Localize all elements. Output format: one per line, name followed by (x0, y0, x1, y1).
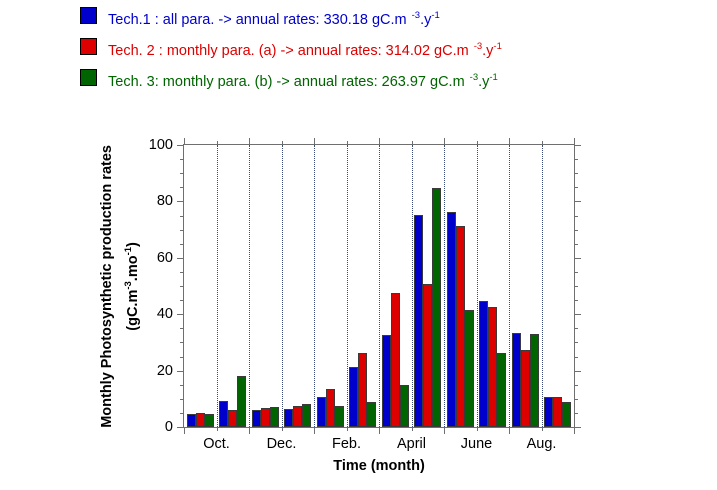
x-axis-tick-label: Aug. (527, 436, 557, 452)
legend-sup-exp2: -1 (489, 72, 497, 83)
bar-tech3 (302, 404, 311, 427)
x-axis-tick (249, 138, 250, 145)
x-axis-tick-label: Dec. (267, 436, 297, 452)
bar-tech1 (284, 409, 293, 427)
bar-tech3 (270, 407, 279, 427)
bar-group (282, 145, 315, 427)
chart-plot-area: 020406080100Oct.Dec.Feb.AprilJuneAug. (183, 144, 575, 428)
y-axis-title: Monthly Photosynthetic production rates … (92, 144, 148, 428)
y-axis-unit-prefix: (gC.m (124, 289, 140, 330)
legend-sup-exp1: -3 (470, 72, 478, 83)
bar-tech2 (521, 350, 530, 427)
bar-tech1 (447, 212, 456, 427)
y-axis-unit-sup2: -1 (123, 247, 134, 255)
x-axis-tick-label: Feb. (332, 436, 361, 452)
legend-item-tech1: Tech.1 : all para. -> annual rates: 330.… (80, 6, 700, 28)
legend: Tech.1 : all para. -> annual rates: 330.… (80, 6, 700, 99)
bar-group (477, 145, 510, 427)
y-axis-tick-right (574, 244, 578, 245)
bar-tech2 (456, 226, 465, 427)
x-axis-tick-top (412, 427, 413, 431)
bar-group (542, 145, 575, 427)
x-axis-tick (379, 138, 380, 145)
bar-group (509, 145, 542, 427)
bar-tech1 (349, 367, 358, 427)
y-axis-tick-right (574, 258, 581, 259)
legend-sup-exp2: -1 (493, 41, 501, 52)
bar-tech2 (261, 408, 270, 427)
legend-text-mid: .y (478, 74, 489, 90)
x-axis-tick-label: June (461, 436, 492, 452)
y-axis-unit-sup1: -3 (123, 281, 134, 289)
y-axis-tick-right (574, 300, 578, 301)
y-axis-tick-right (574, 173, 578, 174)
x-axis-tick-top (217, 427, 218, 431)
y-axis-tick-right (574, 371, 581, 372)
chart-bars (184, 145, 574, 427)
x-axis-tick (184, 138, 185, 145)
bar-tech3 (367, 402, 376, 427)
y-axis-tick-label: 100 (149, 137, 173, 153)
x-axis-tick-top (249, 427, 250, 434)
bar-group (347, 145, 380, 427)
y-axis-tick-right (574, 399, 578, 400)
x-axis-tick-top (379, 427, 380, 434)
bar-tech2 (423, 284, 432, 427)
y-axis-tick (177, 371, 184, 372)
y-axis-tick-right (574, 230, 578, 231)
y-axis-unit-suffix: ) (124, 242, 140, 247)
bar-tech1 (187, 414, 196, 427)
y-axis-tick (177, 201, 184, 202)
bar-tech1 (317, 397, 326, 427)
x-axis-tick-top (477, 427, 478, 431)
bar-tech1 (512, 333, 521, 427)
y-axis-tick (177, 258, 184, 259)
x-axis-tick-top (509, 427, 510, 434)
bar-tech1 (219, 401, 228, 427)
y-axis-tick-right (574, 427, 581, 428)
x-axis-tick-top (444, 427, 445, 434)
bar-tech1 (382, 335, 391, 427)
bar-tech3 (497, 353, 506, 427)
y-axis-tick-right (574, 201, 581, 202)
legend-label-tech1: Tech.1 : all para. -> annual rates: 330.… (108, 6, 440, 30)
bar-tech3 (465, 310, 474, 427)
legend-text-main: Tech. 3: monthly para. (b) -> annual rat… (108, 74, 465, 90)
y-axis-tick-label: 80 (157, 193, 173, 209)
y-axis-tick-right (574, 385, 578, 386)
legend-text-mid: .y (420, 12, 431, 28)
x-axis-tick-top (282, 427, 283, 431)
legend-sup-exp1: -3 (412, 10, 420, 21)
bar-group (184, 145, 217, 427)
y-axis-unit-mid: .mo (124, 255, 140, 281)
bar-group (249, 145, 282, 427)
x-axis-tick-top (574, 427, 575, 434)
bar-group (379, 145, 412, 427)
x-axis-tick (509, 138, 510, 145)
legend-item-tech2: Tech. 2 : monthly para. (a) -> annual ra… (80, 37, 700, 59)
bar-tech2 (326, 389, 335, 427)
bar-group (314, 145, 347, 427)
y-axis-tick-right (574, 187, 578, 188)
x-axis-tick-label: Oct. (203, 436, 230, 452)
bar-tech2 (228, 410, 237, 427)
y-axis-tick (177, 145, 184, 146)
y-axis-tick-label: 40 (157, 306, 173, 322)
legend-text-main: Tech.1 : all para. -> annual rates: 330.… (108, 12, 407, 28)
y-axis-tick-label: 20 (157, 363, 173, 379)
legend-sup-exp2: -1 (431, 10, 439, 21)
x-axis-tick (574, 138, 575, 145)
y-axis-tick (177, 427, 184, 428)
color-swatch-red-icon (80, 38, 97, 55)
y-axis-tick-label: 0 (165, 419, 173, 435)
x-axis-tick-label: April (397, 436, 426, 452)
legend-text-main: Tech. 2 : monthly para. (a) -> annual ra… (108, 43, 469, 59)
y-axis-tick-right (574, 159, 578, 160)
x-axis-title: Time (month) (183, 458, 575, 474)
y-axis-tick-right (574, 145, 581, 146)
bar-tech3 (530, 334, 539, 427)
bar-tech1 (414, 215, 423, 427)
x-axis-tick (314, 138, 315, 145)
x-axis-tick (444, 138, 445, 145)
bar-group (444, 145, 477, 427)
y-axis-tick-right (574, 286, 578, 287)
legend-item-tech3: Tech. 3: monthly para. (b) -> annual rat… (80, 68, 700, 90)
bar-tech2 (391, 293, 400, 427)
x-axis-tick-top (542, 427, 543, 431)
bar-tech2 (553, 397, 562, 427)
bar-tech1 (544, 397, 553, 427)
bar-tech2 (293, 406, 302, 427)
bar-tech1 (252, 410, 261, 427)
legend-sup-exp1: -3 (474, 41, 482, 52)
x-axis-tick-top (184, 427, 185, 434)
color-swatch-blue-icon (80, 7, 97, 24)
y-axis-tick-right (574, 357, 578, 358)
bar-tech3 (335, 406, 344, 427)
bar-tech1 (479, 301, 488, 427)
bar-tech2 (488, 307, 497, 427)
bar-tech3 (562, 402, 571, 427)
x-axis-tick-top (347, 427, 348, 431)
bar-group (412, 145, 445, 427)
bar-tech3 (432, 188, 441, 427)
bar-tech3 (400, 385, 409, 427)
bar-tech3 (237, 376, 246, 427)
bar-tech3 (205, 414, 214, 427)
bar-tech2 (196, 413, 205, 427)
color-swatch-green-icon (80, 69, 97, 86)
y-axis-tick-right (574, 342, 578, 343)
y-axis-tick-right (574, 216, 578, 217)
y-axis-tick-right (574, 314, 581, 315)
y-axis-tick-right (574, 272, 578, 273)
y-axis-tick-label: 60 (157, 250, 173, 266)
bar-group (217, 145, 250, 427)
legend-text-mid: .y (482, 43, 493, 59)
bar-tech2 (358, 353, 367, 427)
y-axis-tick-right (574, 328, 578, 329)
legend-label-tech3: Tech. 3: monthly para. (b) -> annual rat… (108, 68, 498, 92)
y-axis-tick (177, 314, 184, 315)
y-axis-tick-right (574, 413, 578, 414)
legend-label-tech2: Tech. 2 : monthly para. (a) -> annual ra… (108, 37, 502, 61)
x-axis-tick-top (314, 427, 315, 434)
y-axis-title-line1: Monthly Photosynthetic production rates (99, 145, 115, 428)
